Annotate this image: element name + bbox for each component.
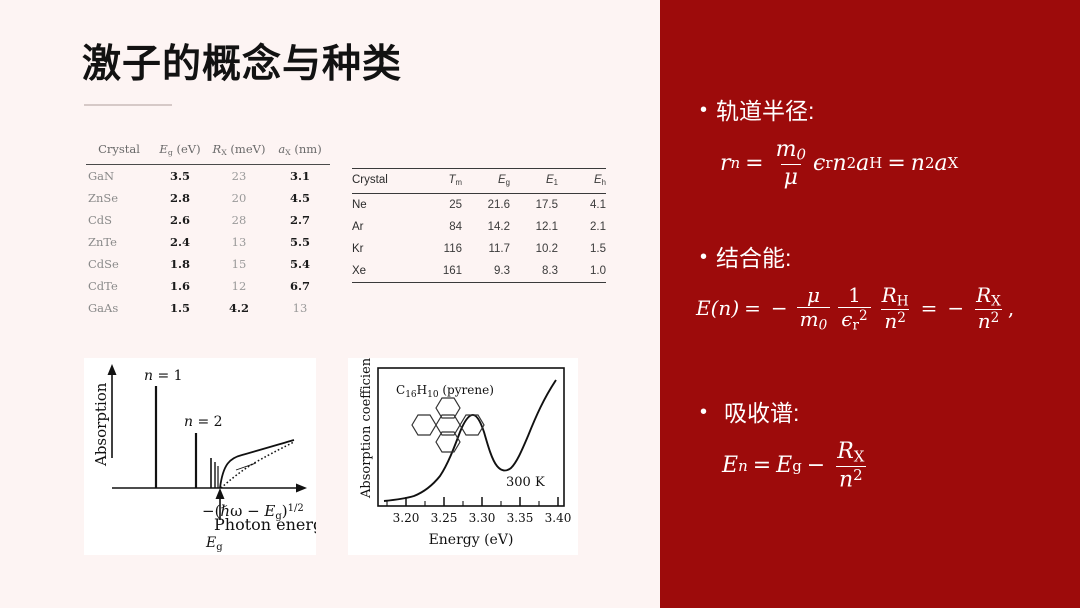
svg-text:Eg: Eg [205, 535, 223, 553]
pyrene-absorption-svg: C16H10 (pyrene) 300 K 3.20 3.25 3.30 [348, 358, 578, 555]
cell-eh: 1.0 [558, 260, 606, 283]
cell-crystal: CdSe [86, 253, 152, 275]
cell-ax: 13 [270, 297, 330, 319]
cell-ax: 5.5 [270, 231, 330, 253]
cell-crystal: Kr [352, 238, 414, 260]
bullet-label-absorption-spectrum: 吸收谱: [724, 400, 799, 428]
cell-eh: 4.1 [558, 193, 606, 216]
svg-text:Energy (eV): Energy (eV) [429, 532, 514, 548]
cell-eg: 14.2 [462, 216, 510, 238]
column-header-tm: Tm [414, 169, 462, 194]
bullet-label-orbit-radius: 轨道半径: [716, 98, 814, 126]
exciton-absorption-svg: Absorption n = 1 n = 2 Eg −(ℏω − Eg)1/2 … [84, 358, 316, 555]
cell-ax: 6.7 [270, 275, 330, 297]
column-header-ax: aX (nm) [270, 138, 330, 164]
cell-e1: 12.1 [510, 216, 558, 238]
cell-ax: 4.5 [270, 187, 330, 209]
cell-eg: 9.3 [462, 260, 510, 283]
cell-eg: 3.5 [152, 164, 208, 187]
table-row: Kr11611.710.21.5 [352, 238, 606, 260]
table-row: ZnSe2.8204.5 [86, 187, 330, 209]
column-header-eg: Eg (eV) [152, 138, 208, 164]
svg-text:Absorption: Absorption [92, 382, 110, 467]
svg-text:n = 1: n = 1 [144, 368, 183, 384]
column-header-eh: Eh [558, 169, 606, 194]
cell-crystal: ZnSe [86, 187, 152, 209]
cell-e1: 10.2 [510, 238, 558, 260]
cell-crystal: GaAs [86, 297, 152, 319]
cell-eg: 1.5 [152, 297, 208, 319]
formula-binding-energy: E(n) =− μm0 1ϵr2 RHn2 =− RXn2 , [696, 285, 1080, 333]
left-content-pane: 激子的概念与种类 Crystal Eg (eV) RX (meV) aX (nm… [0, 0, 660, 608]
figure-exciton-absorption: Absorption n = 1 n = 2 Eg −(ℏω − Eg)1/2 … [84, 358, 316, 555]
formula-absorption-spectrum: En = Eg − RXn2 [722, 440, 1080, 492]
cell-rx: 28 [208, 209, 270, 231]
table-header-row: Crystal Tm Eg E1 Eh [352, 169, 606, 194]
table-row: Ne2521.617.54.1 [352, 193, 606, 216]
svg-text:3.40: 3.40 [545, 511, 572, 525]
svg-text:Absorption coefficient: Absorption coefficient [359, 358, 374, 499]
cell-ax: 2.7 [270, 209, 330, 231]
svg-text:3.35: 3.35 [507, 511, 534, 525]
bullet-binding-energy: • 结合能: E(n) =− μm0 1ϵr2 RHn2 =− RXn2 , [660, 245, 1080, 332]
cell-rx: 13 [208, 231, 270, 253]
right-accent-pane: 1898 北京大学 PEKING UNIVERSITY • 轨道半径: rn =… [660, 0, 1080, 608]
table-crystal-exciton-parameters: Crystal Eg (eV) RX (meV) aX (nm) GaN3.52… [86, 138, 330, 319]
cell-crystal: CdS [86, 209, 152, 231]
formula-orbit-radius: rn = m0μ ϵrn2aH = n2aX [720, 138, 1080, 190]
table-row: CdTe1.6126.7 [86, 275, 330, 297]
cell-rx: 12 [208, 275, 270, 297]
cell-eg: 2.4 [152, 231, 208, 253]
cell-ax: 3.1 [270, 164, 330, 187]
column-header-e1: E1 [510, 169, 558, 194]
cell-eg: 2.6 [152, 209, 208, 231]
cell-eg: 21.6 [462, 193, 510, 216]
page-title: 激子的概念与种类 [82, 33, 402, 89]
bullet-absorption-spectrum: • 吸收谱: En = Eg − RXn2 [660, 400, 1080, 492]
cell-eg: 11.7 [462, 238, 510, 260]
table-row: GaAs1.54.213 [86, 297, 330, 319]
cell-rx: 23 [208, 164, 270, 187]
cell-crystal: GaN [86, 164, 152, 187]
cell-crystal: CdTe [86, 275, 152, 297]
svg-text:300 K: 300 K [506, 475, 545, 490]
table-row: CdSe1.8155.4 [86, 253, 330, 275]
svg-text:n = 2: n = 2 [184, 414, 223, 430]
bullet-dot-icon: • [700, 402, 716, 422]
table-row: CdS2.6282.7 [86, 209, 330, 231]
svg-text:3.25: 3.25 [431, 511, 458, 525]
bullet-dot-icon: • [700, 100, 716, 120]
svg-text:3.20: 3.20 [393, 511, 420, 525]
cell-rx: 20 [208, 187, 270, 209]
column-header-eg: Eg [462, 169, 510, 194]
cell-e1: 17.5 [510, 193, 558, 216]
figure-pyrene-absorption: C16H10 (pyrene) 300 K 3.20 3.25 3.30 [348, 358, 578, 555]
cell-tm: 84 [414, 216, 462, 238]
bullet-dot-icon: • [700, 247, 716, 267]
svg-text:Photon energy: Photon energy [214, 515, 316, 534]
cell-ax: 5.4 [270, 253, 330, 275]
cell-crystal: Xe [352, 260, 414, 283]
cell-e1: 8.3 [510, 260, 558, 283]
table-row: GaN3.5233.1 [86, 164, 330, 187]
cell-tm: 116 [414, 238, 462, 260]
cell-eh: 2.1 [558, 216, 606, 238]
cell-rx: 15 [208, 253, 270, 275]
cell-crystal: Ne [352, 193, 414, 216]
bullet-orbit-radius: • 轨道半径: rn = m0μ ϵrn2aH = n2aX [660, 98, 1080, 189]
cell-tm: 25 [414, 193, 462, 216]
slide-canvas: 激子的概念与种类 Crystal Eg (eV) RX (meV) aX (nm… [0, 0, 1080, 608]
cell-eg: 1.8 [152, 253, 208, 275]
column-header-crystal: Crystal [352, 169, 414, 194]
cell-eg: 2.8 [152, 187, 208, 209]
title-underline-rule [84, 104, 172, 106]
cell-rx: 4.2 [208, 297, 270, 319]
cell-crystal: Ar [352, 216, 414, 238]
column-header-crystal: Crystal [86, 138, 152, 164]
table-noble-gas-crystals: Crystal Tm Eg E1 Eh Ne2521.617.54.1Ar841… [352, 168, 606, 283]
bullet-label-binding-energy: 结合能: [716, 245, 791, 273]
table-row: Ar8414.212.12.1 [352, 216, 606, 238]
table-row: Xe1619.38.31.0 [352, 260, 606, 283]
cell-eh: 1.5 [558, 238, 606, 260]
svg-text:3.30: 3.30 [469, 511, 496, 525]
pyrene-molecule-icon [412, 398, 484, 452]
column-header-rx: RX (meV) [208, 138, 270, 164]
cell-crystal: ZnTe [86, 231, 152, 253]
table-header-row: Crystal Eg (eV) RX (meV) aX (nm) [86, 138, 330, 164]
table-row: ZnTe2.4135.5 [86, 231, 330, 253]
cell-tm: 161 [414, 260, 462, 283]
cell-eg: 1.6 [152, 275, 208, 297]
